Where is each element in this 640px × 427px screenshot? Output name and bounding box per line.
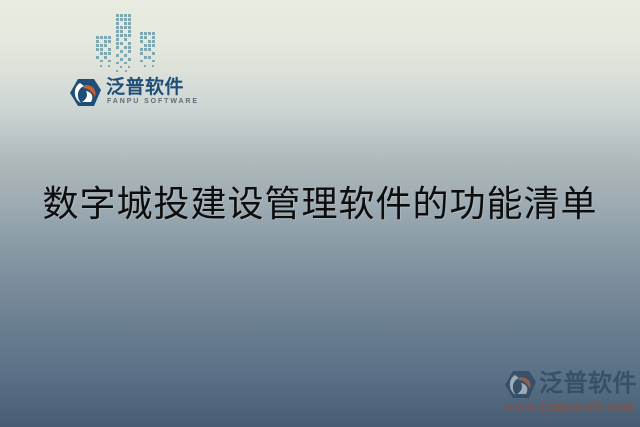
watermark: 泛普软件 www.fanpusoft.com <box>503 370 637 422</box>
slide-canvas: 泛普软件 FANPU SOFTWARE 数字城投建设管理软件的功能清单 泛普软件… <box>0 0 640 427</box>
watermark-url: www.fanpusoft.com <box>504 399 634 416</box>
page-title: 数字城投建设管理软件的功能清单 <box>0 183 640 227</box>
brand-logo: 泛普软件 FANPU SOFTWARE <box>68 76 186 114</box>
watermark-company-name: 泛普软件 <box>539 369 637 397</box>
brand-company-name-en: FANPU SOFTWARE <box>107 98 199 105</box>
fanpu-hexagon-logo-icon <box>503 370 537 400</box>
brand-company-name-cn: 泛普软件 <box>106 76 184 98</box>
fanpu-hexagon-logo-icon <box>68 78 102 108</box>
pixel-city-skyline-icon <box>92 8 172 76</box>
